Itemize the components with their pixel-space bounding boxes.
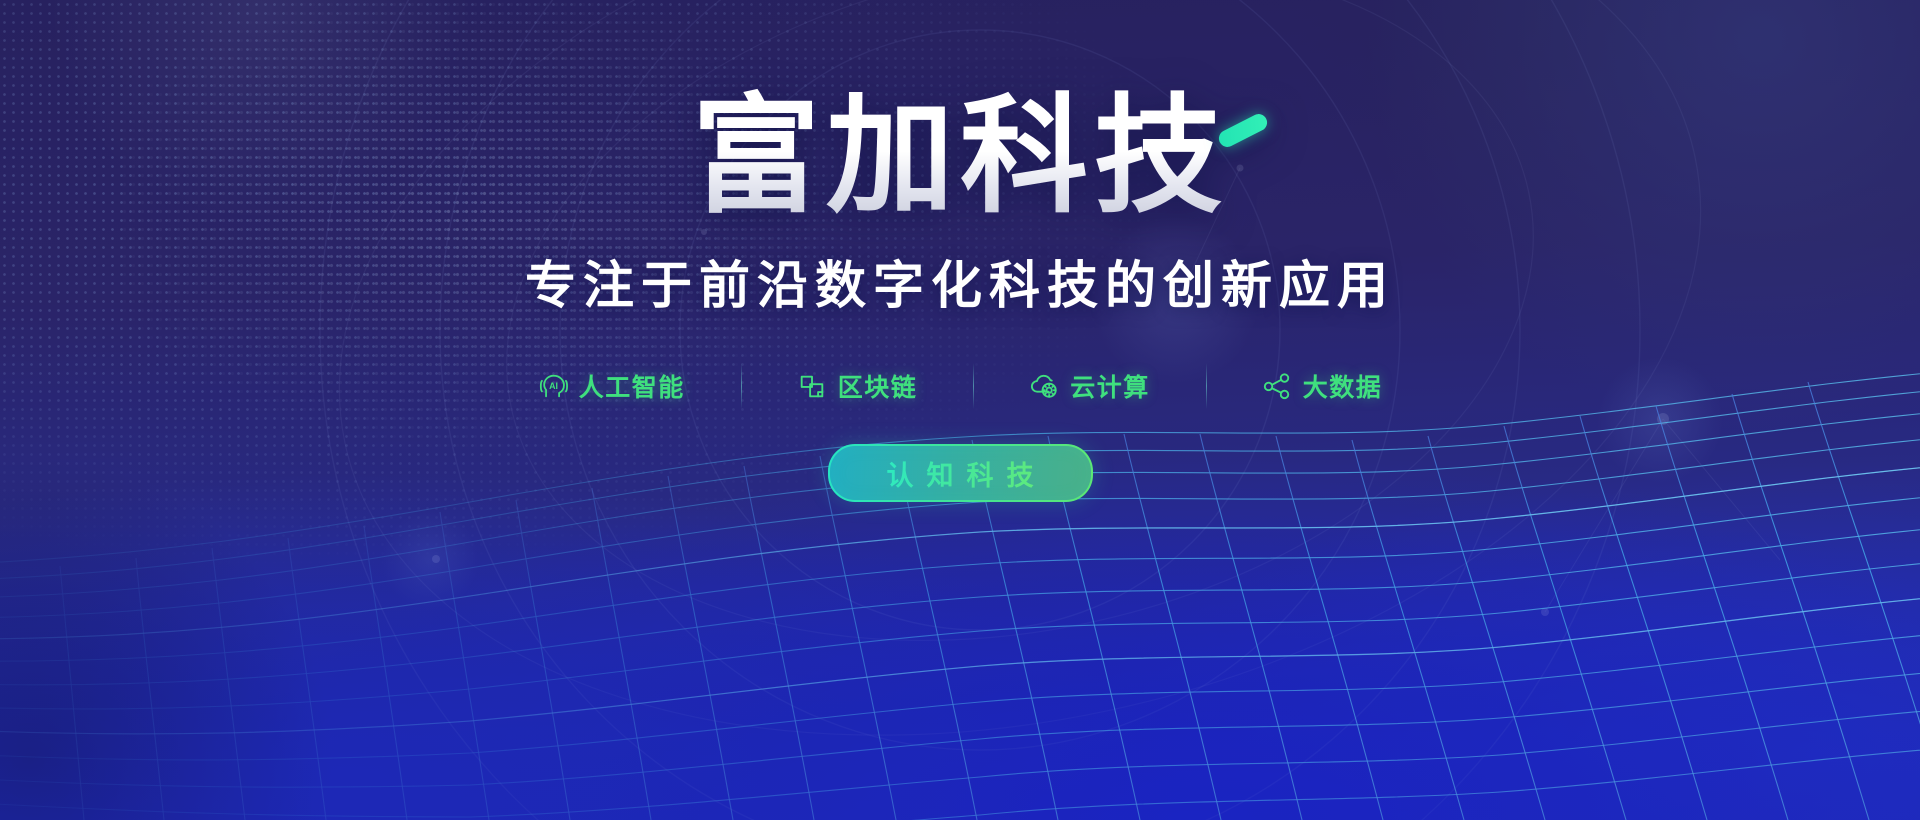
feature-tag-blockchain[interactable]: 区块链 — [741, 368, 974, 404]
feature-tag-label: 大数据 — [1303, 368, 1383, 404]
feature-tag-label: 人工智能 — [579, 368, 685, 404]
data-share-network-icon — [1262, 371, 1292, 401]
feature-tag-ai[interactable]: AI 人工智能 — [482, 368, 741, 404]
cognitive-badge-wrapper: 认知科技 — [828, 444, 1093, 502]
cloud-gear-icon — [1029, 371, 1059, 401]
feature-tag-cloud[interactable]: 云计算 — [973, 368, 1206, 404]
feature-tag-bigdata[interactable]: 大数据 — [1206, 368, 1439, 404]
cognitive-tech-badge-label: 认知科技 — [874, 454, 1047, 493]
ai-head-icon: AI — [538, 371, 568, 401]
svg-text:AI: AI — [549, 381, 558, 391]
hero-subtitle: 专注于前沿数字化科技的创新应用 — [525, 244, 1395, 318]
brand-logo: 富加科技 — [692, 88, 1228, 226]
cognitive-tech-badge[interactable]: 认知科技 — [828, 444, 1093, 502]
feature-tag-label: 云计算 — [1070, 368, 1150, 404]
hero-content: 富加科技 专注于前沿数字化科技的创新应用 AI 人工智能 — [0, 0, 1920, 820]
hero-banner: 富加科技 专注于前沿数字化科技的创新应用 AI 人工智能 — [0, 0, 1920, 820]
feature-tag-label: 区块链 — [838, 368, 918, 404]
feature-tag-list: AI 人工智能 区块链 — [482, 368, 1439, 404]
blockchain-blocks-icon — [797, 371, 827, 401]
brand-logo-text: 富加科技 — [692, 85, 1228, 228]
